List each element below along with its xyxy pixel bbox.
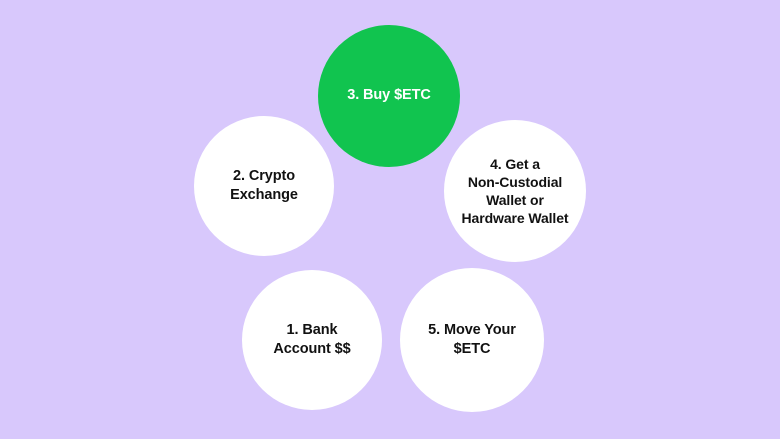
step-node-2-label: 2. Crypto Exchange [220,167,308,205]
step-node-3-buy-etc[interactable]: 3. Buy $ETC [318,25,460,167]
step-node-5-move-etc[interactable]: 5. Move Your $ETC [400,268,544,412]
step-node-4-label: 4. Get a Non-Custodial Wallet or Hardwar… [452,155,579,228]
diagram-canvas: 1. Bank Account $$ 2. Crypto Exchange 3.… [0,0,780,439]
step-node-4-get-wallet[interactable]: 4. Get a Non-Custodial Wallet or Hardwar… [444,120,586,262]
step-node-1-bank-account[interactable]: 1. Bank Account $$ [242,270,382,410]
step-node-2-crypto-exchange[interactable]: 2. Crypto Exchange [194,116,334,256]
step-node-3-label: 3. Buy $ETC [337,86,441,105]
step-node-5-label: 5. Move Your $ETC [418,321,526,359]
step-node-1-label: 1. Bank Account $$ [263,321,360,359]
